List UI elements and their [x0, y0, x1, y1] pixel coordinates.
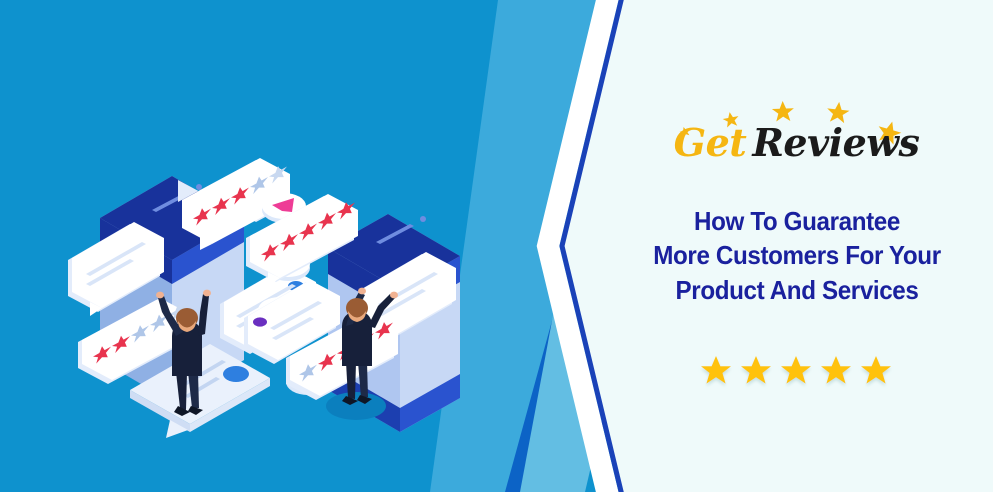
- illustration-svg: [60, 90, 460, 420]
- rating-star-row: [697, 351, 897, 393]
- get-reviews-logo: GetReviews: [647, 88, 947, 176]
- person-left-hand: [156, 292, 164, 299]
- profile-avatar-icon: [253, 317, 267, 326]
- rating-star-4: [821, 356, 851, 384]
- logo-star-3: [771, 101, 794, 122]
- isometric-review-illustration: [60, 90, 460, 420]
- platform-avatar-icon: [223, 366, 249, 382]
- logo-wordmark: GetReviews: [647, 124, 947, 162]
- rating-star-5: [861, 356, 891, 384]
- person-right-shadow: [326, 392, 386, 420]
- person-right-hand: [358, 288, 366, 295]
- rating-star-row-svg: [697, 351, 897, 393]
- person-right-hand: [390, 292, 398, 299]
- person-left-hand: [203, 290, 211, 297]
- rating-stars-group: [701, 356, 891, 384]
- rating-star-2: [741, 356, 771, 384]
- phone-right-camera-icon: [420, 216, 426, 222]
- headline: How To Guarantee More Customers For Your…: [643, 204, 950, 307]
- headline-line-2: More Customers For Your: [643, 238, 950, 272]
- rating-star-3: [781, 356, 811, 384]
- headline-line-3: Product And Services: [643, 273, 950, 307]
- logo-word-get: Get: [674, 120, 747, 165]
- right-content-area: GetReviews How To Guarantee More Custome…: [600, 0, 993, 492]
- headline-line-1: How To Guarantee: [643, 204, 950, 238]
- phone-left-camera-icon: [196, 184, 202, 190]
- review-marketing-banner: GetReviews How To Guarantee More Custome…: [0, 0, 993, 492]
- logo-word-reviews: Reviews: [752, 120, 919, 165]
- rating-star-1: [701, 356, 731, 384]
